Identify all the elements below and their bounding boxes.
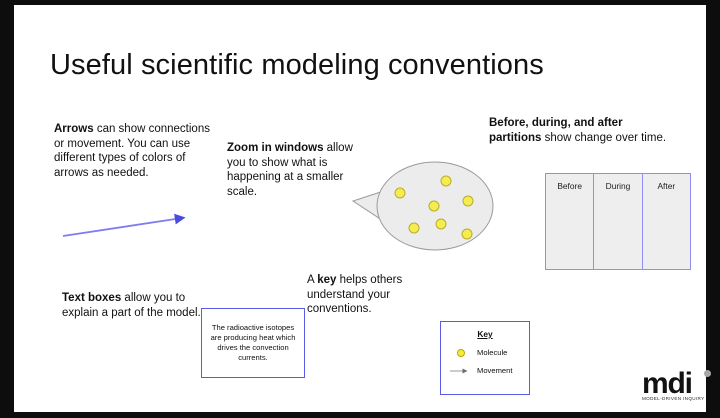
logo-wordmark: mdi: [642, 369, 712, 399]
annotation-partitions: Before, during, and after partitions sho…: [489, 116, 669, 145]
key-entry-molecule: Molecule: [441, 348, 529, 357]
partition-column-before[interactable]: Before: [546, 174, 594, 269]
key-legend-box[interactable]: Key Molecule Movement: [440, 321, 530, 395]
slide-canvas: Useful scientific modeling conventions A…: [14, 5, 706, 412]
molecule-dot: [463, 196, 473, 206]
molecule-dot: [429, 201, 439, 211]
logo-tagline: MODEL-DRIVEN INQUIRY: [642, 396, 712, 401]
zoom-callout-shape: [351, 148, 496, 263]
molecule-dot: [409, 223, 419, 233]
annotation-key: A key helps others understand your conve…: [307, 273, 432, 317]
movement-arrow-icon: [448, 367, 474, 375]
annotation-arrows: Arrows can show connections or movement.…: [54, 122, 214, 180]
annotation-text-boxes: Text boxes allow you to explain a part o…: [62, 291, 202, 320]
example-text-box[interactable]: The radioactive isotopes are producing h…: [201, 308, 305, 378]
key-entry-movement-label: Movement: [477, 366, 512, 375]
partition-column-after[interactable]: After: [643, 174, 690, 269]
partition-header-before: Before: [557, 181, 582, 191]
annotation-zoom-lead: Zoom in windows: [227, 142, 323, 154]
partition-table: Before During After: [545, 173, 691, 270]
annotation-textboxes-lead: Text boxes: [62, 292, 121, 304]
molecule-dot: [395, 188, 405, 198]
partition-header-after: After: [657, 181, 675, 191]
mdi-logo: mdi MODEL-DRIVEN INQUIRY: [642, 369, 712, 409]
molecule-icon: [448, 349, 474, 357]
molecule-dot: [436, 219, 446, 229]
annotation-key-prefix: A: [307, 274, 317, 286]
annotation-arrows-lead: Arrows: [54, 123, 94, 135]
page-title: Useful scientific modeling conventions: [50, 49, 650, 82]
annotation-zoom-windows: Zoom in windows allow you to show what i…: [227, 141, 357, 199]
logo-dot-icon: [704, 370, 711, 377]
key-entry-molecule-label: Molecule: [477, 348, 507, 357]
example-arrow: [54, 201, 214, 251]
annotation-key-lead: key: [317, 274, 336, 286]
example-text-box-content: The radioactive isotopes are producing h…: [207, 323, 299, 364]
annotation-partitions-rest: show change over time.: [541, 132, 666, 144]
molecule-dot: [462, 229, 472, 239]
partition-column-during[interactable]: During: [594, 174, 642, 269]
partition-header-during: During: [606, 181, 631, 191]
key-title: Key: [441, 329, 529, 339]
molecule-dot: [441, 176, 451, 186]
key-entry-movement: Movement: [441, 366, 529, 375]
